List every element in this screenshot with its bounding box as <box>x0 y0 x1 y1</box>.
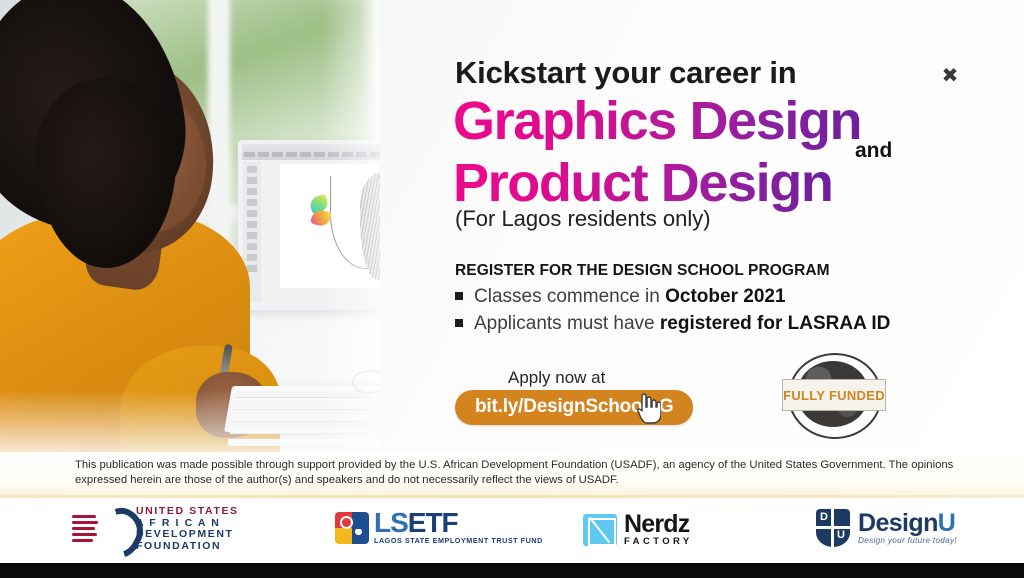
disclaimer-text: This publication was made possible throu… <box>75 458 957 487</box>
lsetf-shield-icon <box>335 512 369 544</box>
bullet-text-plain: Applicants must have <box>474 313 660 334</box>
register-heading: REGISTER FOR THE DESIGN SCHOOL PROGRAM <box>455 262 830 280</box>
advertisement-banner: ✖ Kickstart your career in Graphics Desi… <box>0 0 1024 578</box>
badge-label: FULLY FUNDED <box>783 388 885 403</box>
designu-shield-u: U <box>837 529 845 541</box>
bullet-square-icon <box>455 319 463 327</box>
designu-name-u: U <box>938 509 955 537</box>
bullet-square-icon <box>455 292 463 300</box>
nerdz-name: Nerdz <box>624 512 693 536</box>
lsetf-palm-icon <box>353 529 364 540</box>
designu-tagline: Design your future today! <box>858 536 957 545</box>
bullet-text: Classes commence in October 2021 <box>474 286 786 308</box>
bullet-text-plain: Classes commence in <box>474 286 665 307</box>
bottom-black-bar <box>0 563 1024 578</box>
headline-conjunction: and <box>855 139 892 163</box>
close-icon[interactable]: ✖ <box>938 63 962 87</box>
nerdz-square-icon <box>583 514 617 546</box>
hand-pointer-cursor-icon <box>637 392 661 424</box>
nerdz-tagline: FACTORY <box>624 536 693 547</box>
headline-kicker: Kickstart your career in <box>455 55 797 91</box>
lsetf-logo: LSETF LAGOS STATE EMPLOYMENT TRUST FUND <box>335 510 543 545</box>
lsetf-wordmark: LSETF LAGOS STATE EMPLOYMENT TRUST FUND <box>374 510 543 545</box>
bullet-text-bold: registered for LASRAA ID <box>660 313 891 334</box>
designu-name-design: Design <box>858 509 938 537</box>
lsetf-name-ls: LS <box>374 507 408 538</box>
usadf-line-4: FOUNDATION <box>136 541 239 553</box>
designu-shield-icon: D U <box>816 509 850 547</box>
badge-banner: FULLY FUNDED <box>782 379 886 411</box>
list-item: Applicants must have registered for LASR… <box>455 313 890 335</box>
usadf-line-1: UNITED STATES <box>136 506 239 518</box>
apply-now-label: Apply now at <box>508 368 605 388</box>
fully-funded-badge: FULLY FUNDED <box>782 353 884 435</box>
usadf-wordmark: UNITED STATES A F R I C A N DEVELOPMENT … <box>136 506 239 552</box>
lsetf-tagline: LAGOS STATE EMPLOYMENT TRUST FUND <box>374 536 543 545</box>
usadf-logo: UNITED STATES A F R I C A N DEVELOPMENT … <box>72 506 239 552</box>
designu-logo: D U DesignU Design your future today! <box>816 509 957 547</box>
designu-name: DesignU <box>858 511 957 536</box>
headline-line-1: Graphics Design <box>453 90 861 152</box>
lsetf-name-etf: ETF <box>408 507 458 538</box>
bullet-text-bold: October 2021 <box>665 286 785 307</box>
nerdz-wordmark: Nerdz FACTORY <box>624 512 693 547</box>
nerdz-factory-logo: Nerdz FACTORY <box>583 512 693 547</box>
bullet-text: Applicants must have registered for LASR… <box>474 313 890 335</box>
designu-wordmark: DesignU Design your future today! <box>858 511 957 545</box>
list-item: Classes commence in October 2021 <box>455 286 890 308</box>
lsetf-name: LSETF <box>374 510 543 536</box>
lsetf-circle-icon <box>340 516 353 529</box>
headline-line-2: Product Design <box>453 152 832 214</box>
details-bullet-list: Classes commence in October 2021 Applica… <box>455 286 890 340</box>
usadf-line-3: DEVELOPMENT <box>136 529 239 541</box>
designu-shield-d: D <box>820 511 828 523</box>
headline-subtitle: (For Lagos residents only) <box>455 206 711 232</box>
